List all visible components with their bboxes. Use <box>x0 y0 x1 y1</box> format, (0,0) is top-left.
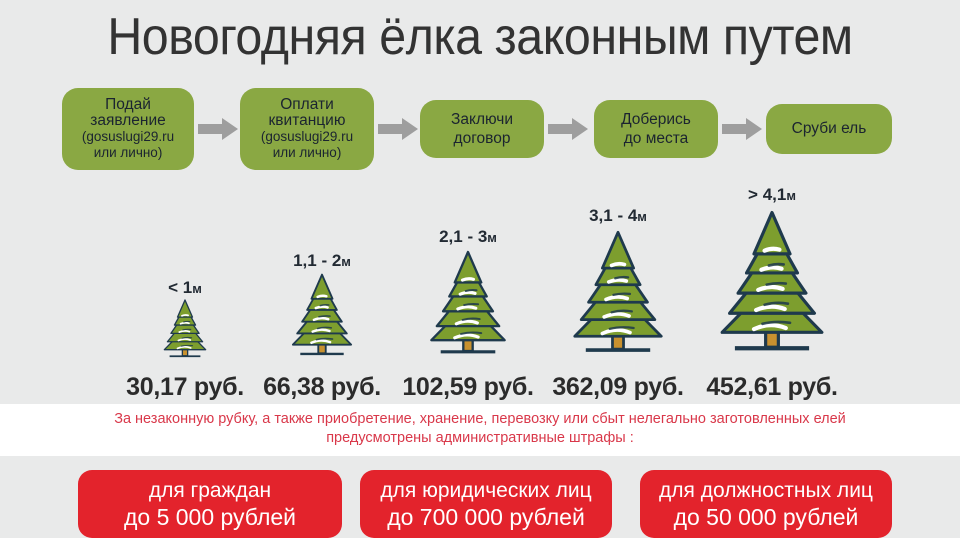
tree-height-value-2: 1,1 - 2 <box>293 251 341 270</box>
tree-height-value-5: > 4,1 <box>748 185 786 204</box>
tree-icon-5 <box>693 203 852 362</box>
tree-height-value-3: 2,1 - 3 <box>439 227 487 246</box>
flow-step-1-line2: заявление <box>82 113 174 129</box>
flow-step-3-line1: Заключи <box>451 110 513 129</box>
page-title: Новогодняя ёлка законным путем <box>34 8 927 66</box>
flow-step-1-line3: (gosuslugi29.ru <box>82 129 174 145</box>
penalty-row: для граждан до 5 000 рублей для юридичес… <box>0 470 960 538</box>
tree-price-1: 30,17 руб. <box>126 373 244 402</box>
penalty-box-citizens-who: для граждан <box>149 479 271 502</box>
penalty-box-officials-amount: до 50 000 рублей <box>659 504 873 531</box>
tree-height-value-4: 3,1 - 4 <box>589 206 637 225</box>
tree-height-unit-3: м <box>487 230 497 245</box>
penalty-box-officials: для должностных лиц до 50 000 рублей <box>640 470 892 538</box>
flow-step-1-line1: Подай <box>82 97 174 113</box>
flow-step-1-line4: или лично) <box>82 145 174 161</box>
flow-step-2-line4: или лично) <box>261 145 353 161</box>
tree-height-unit-5: м <box>786 188 796 203</box>
tree-icon-1 <box>152 296 218 362</box>
flow-step-2: Оплати квитанцию (gosuslugi29.ru или лич… <box>240 88 374 170</box>
flow-step-4-line2: до места <box>621 129 691 148</box>
process-flow: Подай заявление (gosuslugi29.ru или личн… <box>0 88 960 170</box>
flow-step-4-line1: Доберись <box>621 110 691 129</box>
arrow-right-icon-2 <box>378 117 418 141</box>
tree-icon-3 <box>410 245 527 362</box>
flow-step-3: Заключи договор <box>420 100 544 158</box>
tree-column-1: < 1м30,17 руб. <box>110 190 260 402</box>
tree-icon-4 <box>549 224 687 362</box>
flow-step-4: Доберись до места <box>594 100 718 158</box>
warning-line-2: предусмотрены административные штрафы : <box>0 429 960 448</box>
tree-price-4: 362,09 руб. <box>552 373 683 402</box>
tree-price-5: 452,61 руб. <box>706 373 837 402</box>
tree-price-3: 102,59 руб. <box>402 373 533 402</box>
flow-step-5: Сруби ель <box>766 104 892 154</box>
tree-height-label-5: > 4,1м <box>748 185 796 205</box>
tree-price-chart: < 1м30,17 руб.1,1 - 2м66,38 руб.2,1 - 3м… <box>0 190 960 402</box>
penalty-box-citizens: для граждан до 5 000 рублей <box>78 470 342 538</box>
tree-icon-2 <box>276 269 369 362</box>
warning-text: За незаконную рубку, а также приобретени… <box>0 410 960 448</box>
infographic-root: Новогодняя ёлка законным путем Подай зая… <box>0 0 960 538</box>
tree-height-label-2: 1,1 - 2м <box>293 251 351 271</box>
tree-height-label-1: < 1м <box>168 278 202 298</box>
arrow-right-icon-3 <box>548 117 588 141</box>
tree-price-2: 66,38 руб. <box>263 373 381 402</box>
penalty-box-legal-entities-amount: до 700 000 рублей <box>380 504 591 531</box>
warning-line-1: За незаконную рубку, а также приобретени… <box>0 410 960 429</box>
flow-step-2-line2: квитанцию <box>261 113 353 129</box>
arrow-right-icon-4 <box>722 117 762 141</box>
flow-step-3-line2: договор <box>451 129 513 148</box>
tree-height-unit-4: м <box>637 209 647 224</box>
flow-step-5-line1: Сруби ель <box>792 121 867 137</box>
tree-height-value-1: < 1 <box>168 278 192 297</box>
tree-column-5: > 4,1м452,61 руб. <box>677 190 867 402</box>
flow-step-2-line3: (gosuslugi29.ru <box>261 129 353 145</box>
flow-step-2-line1: Оплати <box>261 97 353 113</box>
tree-height-label-3: 2,1 - 3м <box>439 227 497 247</box>
penalty-box-legal-entities: для юридических лиц до 700 000 рублей <box>360 470 612 538</box>
penalty-box-officials-who: для должностных лиц <box>659 479 873 502</box>
penalty-box-citizens-amount: до 5 000 рублей <box>124 504 296 531</box>
arrow-right-icon-1 <box>198 117 238 141</box>
flow-step-1: Подай заявление (gosuslugi29.ru или личн… <box>62 88 194 170</box>
tree-height-label-4: 3,1 - 4м <box>589 206 647 226</box>
tree-height-unit-1: м <box>192 281 202 296</box>
penalty-box-legal-entities-who: для юридических лиц <box>380 479 591 502</box>
tree-column-2: 1,1 - 2м66,38 руб. <box>247 190 397 402</box>
tree-height-unit-2: м <box>341 254 351 269</box>
